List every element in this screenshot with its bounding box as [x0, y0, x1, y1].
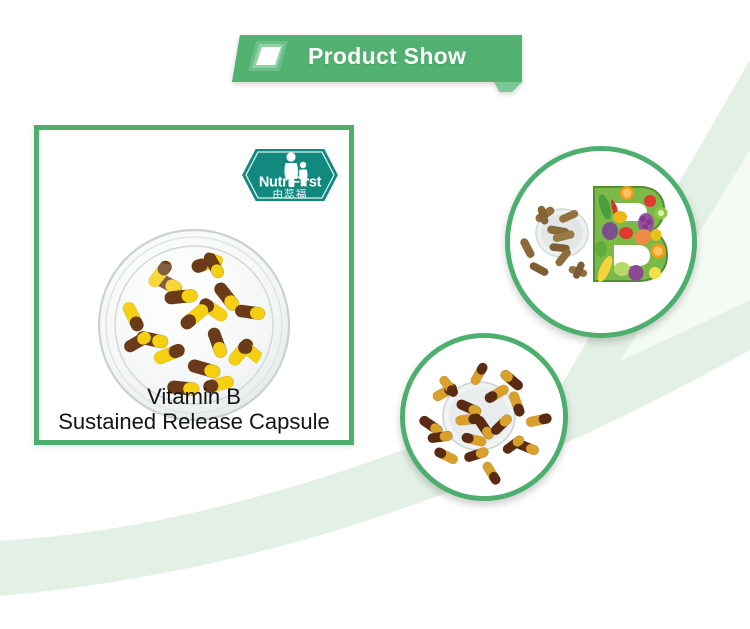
product-show-slide: Product Show NutriFirst — [0, 0, 750, 629]
scattered-capsules-photo[interactable] — [400, 333, 568, 501]
vitamin-b-vegetables-photo[interactable] — [505, 146, 697, 338]
product-card-inner: NutriFirst 由蕊福 — [39, 130, 349, 440]
capsules-photo-inner — [405, 338, 563, 496]
product-caption: Vitamin B Sustained Release Capsule — [39, 384, 349, 434]
brand-name-cn-text: 由蕊福 — [272, 188, 307, 201]
caption-line-2: Sustained Release Capsule — [39, 409, 349, 434]
header-banner: Product Show — [232, 30, 522, 82]
brand-logo: NutriFirst 由蕊福 — [239, 146, 341, 204]
banner-fold — [494, 82, 522, 92]
product-card[interactable]: NutriFirst 由蕊福 — [34, 125, 354, 445]
vitamin-b-photo-inner — [510, 151, 692, 333]
banner-title: Product Show — [308, 30, 466, 82]
parallelogram-mark-icon — [246, 39, 290, 73]
letter-b-produce — [594, 186, 668, 284]
caption-line-1: Vitamin B — [39, 384, 349, 409]
